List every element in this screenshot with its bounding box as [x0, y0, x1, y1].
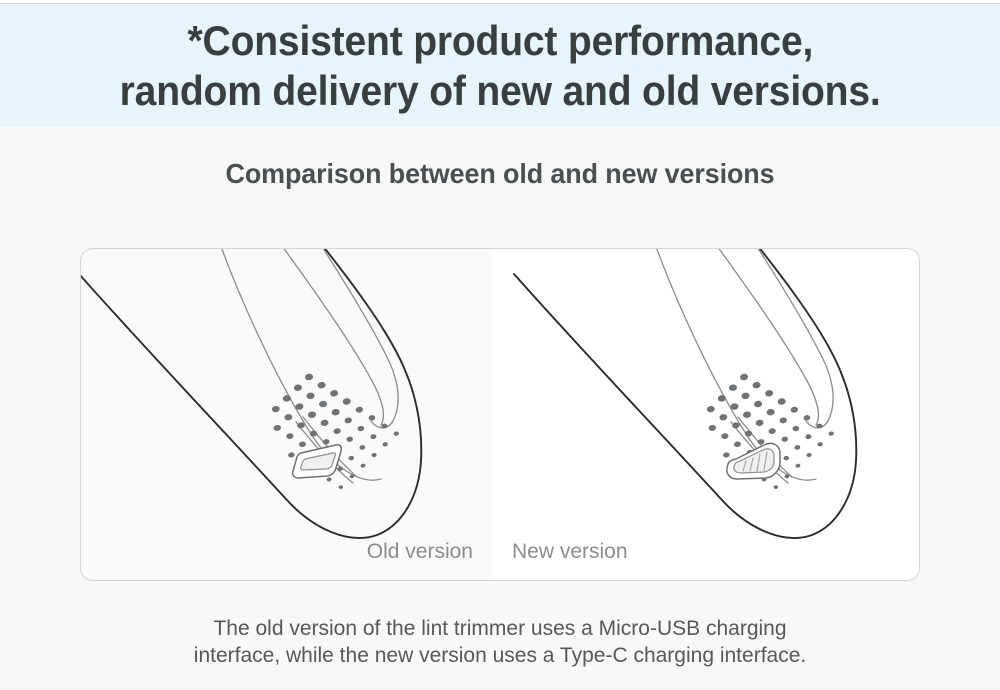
old-version-panel: Old version — [81, 249, 492, 580]
section-title: Comparison between old and new versions — [20, 158, 980, 190]
caption-block: The old version of the lint trimmer uses… — [0, 615, 1000, 669]
old-version-device-illustration — [81, 249, 492, 580]
old-version-label: Old version — [367, 540, 473, 564]
new-version-device-illustration — [492, 249, 919, 580]
caption-line-1: The old version of the lint trimmer uses… — [0, 615, 1000, 642]
header-banner: *Consistent product performance, random … — [0, 4, 1000, 127]
new-version-label: New version — [512, 540, 628, 564]
header-title-line-1: *Consistent product performance, — [187, 16, 813, 66]
new-version-panel: New version — [492, 249, 919, 580]
comparison-card: Old version — [80, 248, 920, 581]
caption-line-2: interface, while the new version uses a … — [0, 642, 1000, 669]
header-title-line-2: random delivery of new and old versions. — [120, 66, 881, 116]
